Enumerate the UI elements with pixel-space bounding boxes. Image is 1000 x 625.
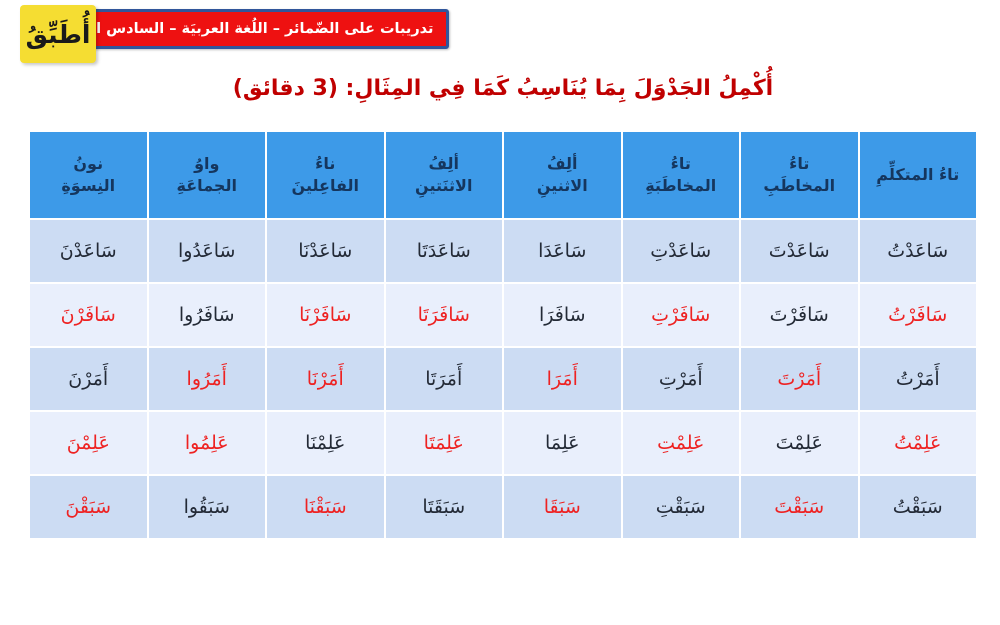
column-header-5: ناءُالفاعِلينَ (267, 132, 384, 218)
answer-cell[interactable]: عَلِمْتُ (860, 412, 977, 474)
top-bar: تدريبات على الضّمائر – اللُغة العربيَة –… (0, 0, 1000, 70)
given-cell[interactable]: سَبَقُوا (149, 476, 266, 538)
answer-cell[interactable]: أَمَرْنَا (267, 348, 384, 410)
answer-cell[interactable]: عَلِمَتَا (386, 412, 503, 474)
column-header-line2: الجماعَةِ (153, 175, 262, 197)
answer-cell[interactable]: سَبَقَا (504, 476, 621, 538)
column-header-line1: واوُ (153, 153, 262, 175)
column-header-3: ألِفُالاثنينِ (504, 132, 621, 218)
given-cell[interactable]: سَاعَدْنَ (30, 220, 147, 282)
given-cell[interactable]: سَاعَدْتُ (860, 220, 977, 282)
given-cell[interactable]: سَبَقْتُ (860, 476, 977, 538)
instruction-text: أُكْمِلُ الجَدْوَلَ بِمَا يُنَاسِبُ كَمَ… (28, 76, 978, 101)
answer-cell[interactable]: عَلِمْتِ (623, 412, 740, 474)
column-header-1: تاءُالمخاطَبِ (741, 132, 858, 218)
column-header-line1: نونُ (34, 153, 143, 175)
given-cell[interactable]: أَمَرْتُ (860, 348, 977, 410)
column-header-line2: المخاطَبِ (745, 175, 854, 197)
answer-cell[interactable]: سَبَقْتَ (741, 476, 858, 538)
given-cell[interactable]: سَاعَدَتَا (386, 220, 503, 282)
table-row: سَبَقْتُسَبَقْتَسَبَقْتِسَبَقَاسَبَقَتَا… (30, 476, 976, 538)
column-header-line2: المخاطَبَةِ (627, 175, 736, 197)
answer-cell[interactable]: سَافَرْنَ (30, 284, 147, 346)
column-header-line1: تاءُ المتكلِّمِ (864, 166, 973, 184)
column-header-line2: الاثنَتينِ (390, 175, 499, 197)
given-cell[interactable]: سَبَقْتِ (623, 476, 740, 538)
column-header-line1: تاءُ (745, 153, 854, 175)
table-header-row: تاءُ المتكلِّمِتاءُالمخاطَبِتاءُالمخاطَب… (30, 132, 976, 218)
column-header-6: واوُالجماعَةِ (149, 132, 266, 218)
conjugation-table: تاءُ المتكلِّمِتاءُالمخاطَبِتاءُالمخاطَب… (28, 130, 978, 540)
given-cell[interactable]: سَافَرُوا (149, 284, 266, 346)
apply-badge-label: أُطَبِّقُ (26, 22, 91, 47)
given-cell[interactable]: سَاعَدُوا (149, 220, 266, 282)
column-header-4: ألِفُالاثنَتينِ (386, 132, 503, 218)
column-header-0: تاءُ المتكلِّمِ (860, 132, 977, 218)
given-cell[interactable]: سَاعَدْنَا (267, 220, 384, 282)
answer-cell[interactable]: سَافَرْنَا (267, 284, 384, 346)
column-header-line1: ألِفُ (390, 153, 499, 175)
given-cell[interactable]: سَافَرْتَ (741, 284, 858, 346)
table-row: سَاعَدْتُسَاعَدْتَسَاعَدْتِسَاعَدَاسَاعَ… (30, 220, 976, 282)
answer-cell[interactable]: أَمَرَا (504, 348, 621, 410)
lesson-title-text: تدريبات على الضّمائر – اللُغة العربيَة –… (41, 21, 434, 37)
given-cell[interactable]: سَافَرَا (504, 284, 621, 346)
table-row: أَمَرْتُأَمَرْتَأَمَرْتِأَمَرَاأَمَرَتَا… (30, 348, 976, 410)
given-cell[interactable]: سَاعَدْتَ (741, 220, 858, 282)
given-cell[interactable]: أَمَرْتِ (623, 348, 740, 410)
answer-cell[interactable]: سَافَرْتُ (860, 284, 977, 346)
answer-cell[interactable]: سَبَقْنَ (30, 476, 147, 538)
table-row: عَلِمْتُعَلِمْتَعَلِمْتِعَلِمَاعَلِمَتَا… (30, 412, 976, 474)
answer-cell[interactable]: سَافَرْتِ (623, 284, 740, 346)
given-cell[interactable]: عَلِمْتَ (741, 412, 858, 474)
given-cell[interactable]: عَلِمْنَا (267, 412, 384, 474)
table-head: تاءُ المتكلِّمِتاءُالمخاطَبِتاءُالمخاطَب… (30, 132, 976, 218)
conjugation-table-wrapper: تاءُ المتكلِّمِتاءُالمخاطَبِتاءُالمخاطَب… (28, 130, 978, 540)
column-header-line1: تاءُ (627, 153, 736, 175)
answer-cell[interactable]: سَبَقْنَا (267, 476, 384, 538)
answer-cell[interactable]: عَلِمْنَ (30, 412, 147, 474)
given-cell[interactable]: أَمَرَتَا (386, 348, 503, 410)
given-cell[interactable]: سَاعَدْتِ (623, 220, 740, 282)
column-header-line2: الاثنينِ (508, 175, 617, 197)
apply-badge: أُطَبِّقُ (20, 5, 96, 63)
column-header-2: تاءُالمخاطَبَةِ (623, 132, 740, 218)
answer-cell[interactable]: أَمَرْتَ (741, 348, 858, 410)
given-cell[interactable]: أَمَرْنَ (30, 348, 147, 410)
answer-cell[interactable]: أَمَرُوا (149, 348, 266, 410)
given-cell[interactable]: سَاعَدَا (504, 220, 621, 282)
answer-cell[interactable]: سَافَرَتَا (386, 284, 503, 346)
given-cell[interactable]: سَبَقَتَا (386, 476, 503, 538)
column-header-line2: الفاعِلينَ (271, 175, 380, 197)
table-body: سَاعَدْتُسَاعَدْتَسَاعَدْتِسَاعَدَاسَاعَ… (30, 220, 976, 538)
column-header-line1: ألِفُ (508, 153, 617, 175)
column-header-7: نونُالنِسوَةِ (30, 132, 147, 218)
column-header-line2: النِسوَةِ (34, 175, 143, 197)
table-row: سَافَرْتُسَافَرْتَسَافَرْتِسَافَرَاسَافَ… (30, 284, 976, 346)
column-header-line1: ناءُ (271, 153, 380, 175)
answer-cell[interactable]: عَلِمُوا (149, 412, 266, 474)
given-cell[interactable]: عَلِمَا (504, 412, 621, 474)
